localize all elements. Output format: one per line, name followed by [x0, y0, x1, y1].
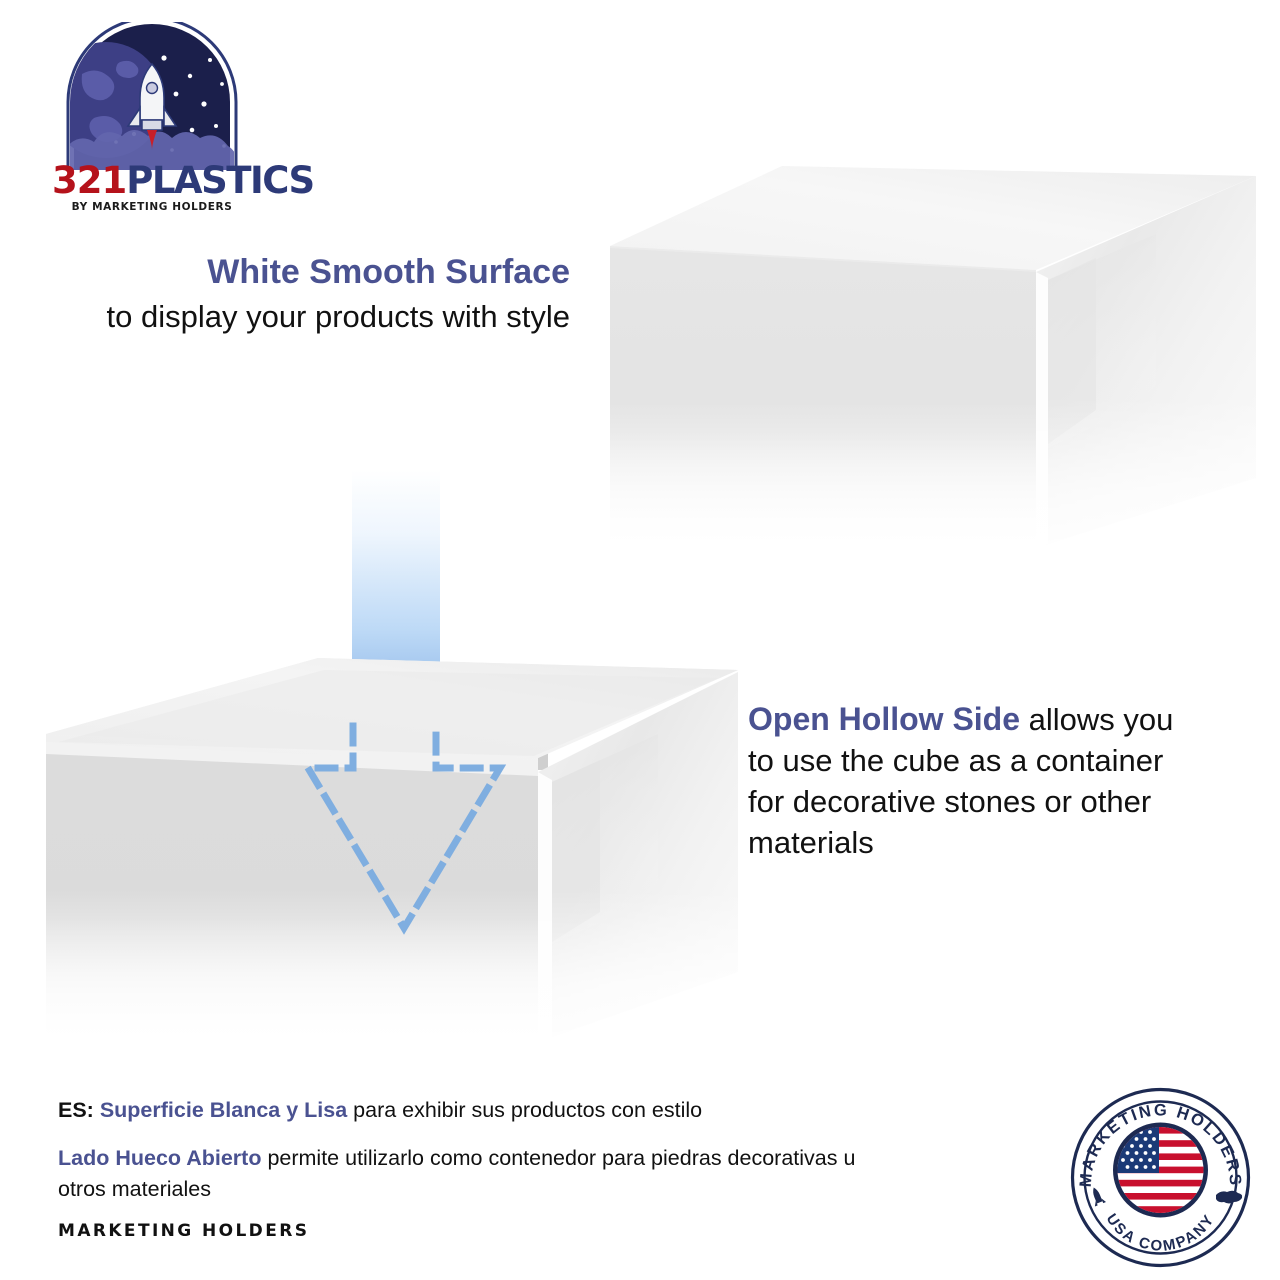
callout-top-body: to display your products with style [107, 299, 571, 334]
callout-open-hollow-side: Open Hollow Side allows you to use the c… [748, 698, 1200, 864]
callout-top-lead: White Smooth Surface [70, 250, 570, 295]
rocket-globe-icon [64, 22, 240, 170]
top-cube-graphic [596, 148, 1256, 568]
logo-tagline: BY MARKETING HOLDERS [52, 202, 252, 213]
brand-wordmark: 321PLASTICS BY MARKETING HOLDERS [52, 162, 252, 213]
usa-company-badge: MARKETING HOLDERS USA COMPANY [1068, 1085, 1253, 1270]
logo-321-text: 321 [52, 159, 126, 202]
spanish-line-1: ES: Superficie Blanca y Lisa para exhibi… [58, 1095, 898, 1126]
infographic-canvas: 321PLASTICS BY MARKETING HOLDERS [0, 0, 1280, 1280]
spanish-description: ES: Superficie Blanca y Lisa para exhibi… [58, 1095, 898, 1206]
callout-white-smooth-surface: White Smooth Surfaceto display your prod… [70, 250, 570, 338]
spanish-line-2-lead: Lado Hueco Abierto [58, 1146, 261, 1170]
dashed-down-arrow-icon [286, 722, 526, 937]
logo-plastics-text: PLASTICS [126, 159, 313, 202]
footer-brand-name: MARKETING HOLDERS [58, 1221, 309, 1241]
spanish-line-1-body: para exhibir sus productos con estilo [347, 1098, 702, 1122]
spanish-line-2: Lado Hueco Abierto permite utilizarlo co… [58, 1143, 898, 1205]
brand-logo: 321PLASTICS BY MARKETING HOLDERS [52, 22, 252, 207]
language-tag: ES: [58, 1098, 94, 1122]
spanish-line-1-lead: Superficie Blanca y Lisa [100, 1098, 347, 1122]
callout-right-lead: Open Hollow Side [748, 701, 1020, 737]
